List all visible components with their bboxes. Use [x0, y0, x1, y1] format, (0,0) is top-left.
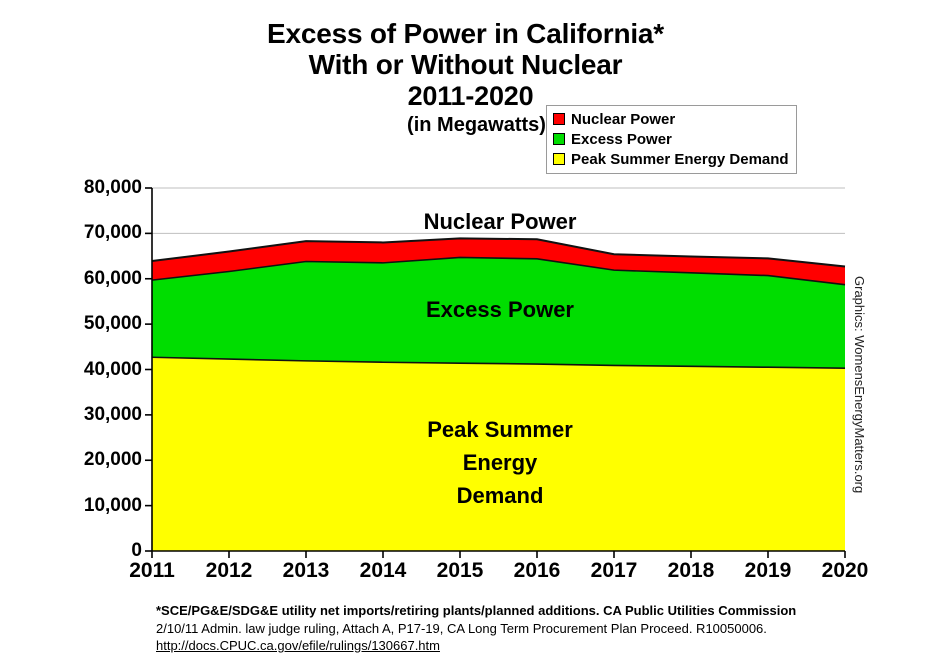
x-tick-label-2016: 2016: [497, 559, 577, 583]
area-series-peak-summer-energy-demand: [152, 357, 845, 551]
x-tick-label-2017: 2017: [574, 559, 654, 583]
y-axis-ticks: [145, 188, 152, 551]
y-tick-label-70000: 70,000: [0, 223, 142, 242]
y-tick-label-30000: 30,000: [0, 405, 142, 424]
x-tick-label-2014: 2014: [343, 559, 423, 583]
x-tick-label-2019: 2019: [728, 559, 808, 583]
x-axis-labels: 2011201220132014201520162017201820192020: [0, 559, 931, 589]
footnote-line-2: 2/10/11 Admin. law judge ruling, Attach …: [156, 620, 876, 638]
x-tick-label-2013: 2013: [266, 559, 346, 583]
x-tick-label-2020: 2020: [805, 559, 885, 583]
y-tick-label-80000: 80,000: [0, 178, 142, 197]
graphics-credit: Graphics: WomensEnergyMatters.org: [852, 276, 866, 496]
x-tick-label-2015: 2015: [420, 559, 500, 583]
x-tick-label-2018: 2018: [651, 559, 731, 583]
footnote-source-link[interactable]: http://docs.CPUC.ca.gov/efile/rulings/13…: [156, 637, 876, 655]
x-tick-label-2011: 2011: [112, 559, 192, 583]
chart-plot-area: 010,00020,00030,00040,00050,00060,00070,…: [0, 0, 931, 670]
y-tick-label-60000: 60,000: [0, 269, 142, 288]
footnote-line-1: *SCE/PG&E/SDG&E utility net imports/reti…: [156, 602, 876, 620]
x-axis-ticks: [152, 551, 845, 558]
area-series-group: [152, 238, 845, 551]
footnote-block: *SCE/PG&E/SDG&E utility net imports/reti…: [156, 602, 876, 655]
y-tick-label-10000: 10,000: [0, 496, 142, 515]
y-tick-label-40000: 40,000: [0, 360, 142, 379]
y-tick-label-20000: 20,000: [0, 450, 142, 469]
y-tick-label-50000: 50,000: [0, 314, 142, 333]
x-tick-label-2012: 2012: [189, 559, 269, 583]
y-tick-label-0: 0: [0, 541, 142, 560]
